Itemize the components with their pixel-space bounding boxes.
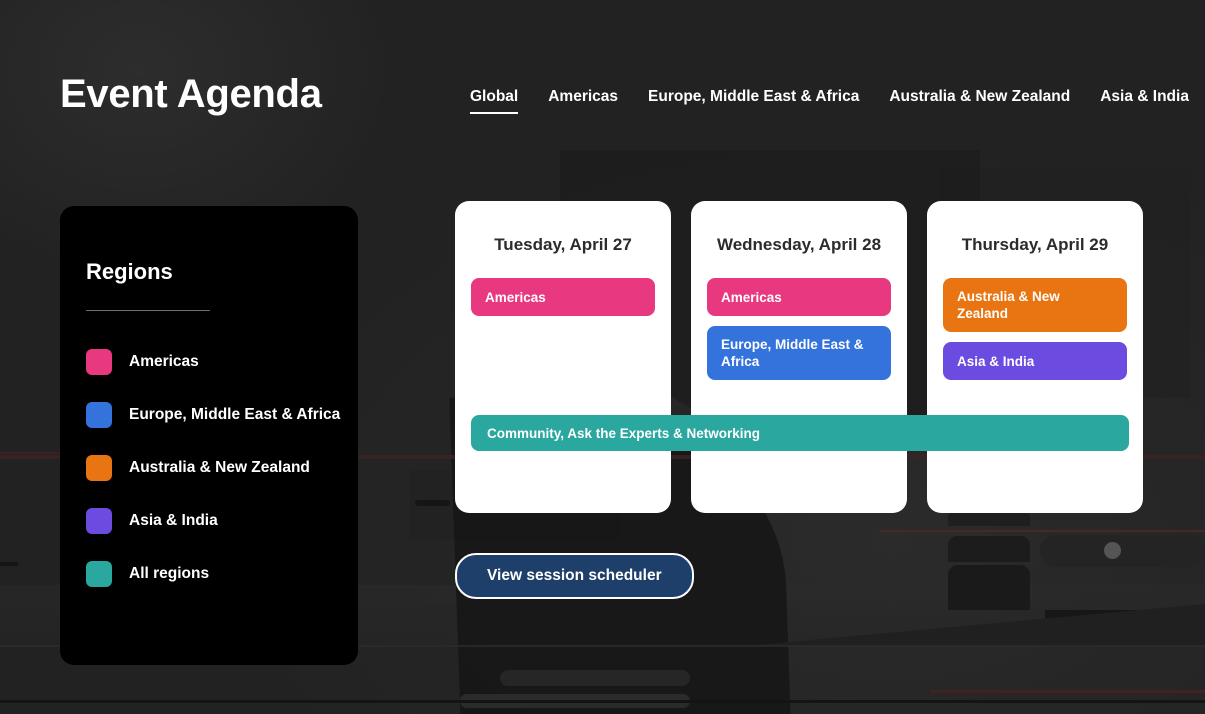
day-card: Tuesday, April 27Americas [455,201,671,513]
global-session-label: Community, Ask the Experts & Networking [487,426,760,441]
session-pill[interactable]: Europe, Middle East & Africa [707,326,891,380]
view-session-scheduler-label: View session scheduler [487,567,662,585]
legend-color-swatch [86,402,112,428]
legend-item: Australia & New Zealand [86,441,358,494]
regions-divider [86,310,210,311]
day-card-date: Wednesday, April 28 [707,234,891,256]
legend-color-swatch [86,349,112,375]
nav-tab-global[interactable]: Global [470,88,518,114]
background-red-line-bottom [930,690,1205,693]
regions-legend-list: AmericasEurope, Middle East & AfricaAust… [86,335,358,600]
nav-tab-europe-middle-east-africa[interactable]: Europe, Middle East & Africa [648,88,859,114]
schedule-grid: Tuesday, April 27AmericasWednesday, Apri… [455,201,1143,513]
legend-item-label: All regions [129,564,209,584]
event-agenda-page: Event Agenda GlobalAmericasEurope, Middl… [0,0,1205,714]
session-pill[interactable]: Americas [707,278,891,316]
day-card-date: Thursday, April 29 [943,234,1127,256]
session-pill-label: Australia & New Zealand [957,288,1113,322]
legend-color-swatch [86,561,112,587]
legend-item-label: Europe, Middle East & Africa [129,405,340,425]
background-stripe-bottom [0,700,1205,703]
background-tick-left [415,500,450,506]
day-card: Thursday, April 29Australia & New Zealan… [927,201,1143,513]
session-pill[interactable]: Americas [471,278,655,316]
background-pill [1040,535,1205,567]
background-red-line-right [880,530,1205,532]
global-session-bar[interactable]: Community, Ask the Experts & Networking [471,415,1129,451]
view-session-scheduler-button[interactable]: View session scheduler [455,553,694,599]
legend-item: Asia & India [86,494,358,547]
legend-color-swatch [86,455,112,481]
legend-color-swatch [86,508,112,534]
page-title: Event Agenda [60,68,322,120]
background-panel-3 [948,565,1030,610]
legend-item-label: Americas [129,352,199,372]
legend-item: All regions [86,547,358,600]
session-pill-label: Americas [721,289,782,306]
legend-item: Europe, Middle East & Africa [86,388,358,441]
nav-tab-americas[interactable]: Americas [548,88,618,114]
day-card: Wednesday, April 28AmericasEurope, Middl… [691,201,907,513]
background-bar-1 [500,670,690,686]
session-pill-label: Asia & India [957,353,1034,370]
legend-item-label: Asia & India [129,511,218,531]
session-pill[interactable]: Australia & New Zealand [943,278,1127,332]
background-dot [1104,542,1121,559]
session-pill-label: Americas [485,289,546,306]
legend-item-label: Australia & New Zealand [129,458,310,478]
regions-legend-panel: Regions AmericasEurope, Middle East & Af… [60,206,358,665]
page-header: Event Agenda GlobalAmericasEurope, Middl… [0,0,1205,150]
region-tabs: GlobalAmericasEurope, Middle East & Afri… [470,88,1189,114]
legend-item: Americas [86,335,358,388]
regions-heading: Regions [86,258,358,286]
day-card-date: Tuesday, April 27 [471,234,655,256]
nav-tab-asia-india[interactable]: Asia & India [1100,88,1189,114]
nav-tab-australia-new-zealand[interactable]: Australia & New Zealand [889,88,1070,114]
background-tick-edge [0,562,18,566]
session-pill-label: Europe, Middle East & Africa [721,336,877,370]
background-panel-2 [948,536,1030,562]
session-pill[interactable]: Asia & India [943,342,1127,380]
